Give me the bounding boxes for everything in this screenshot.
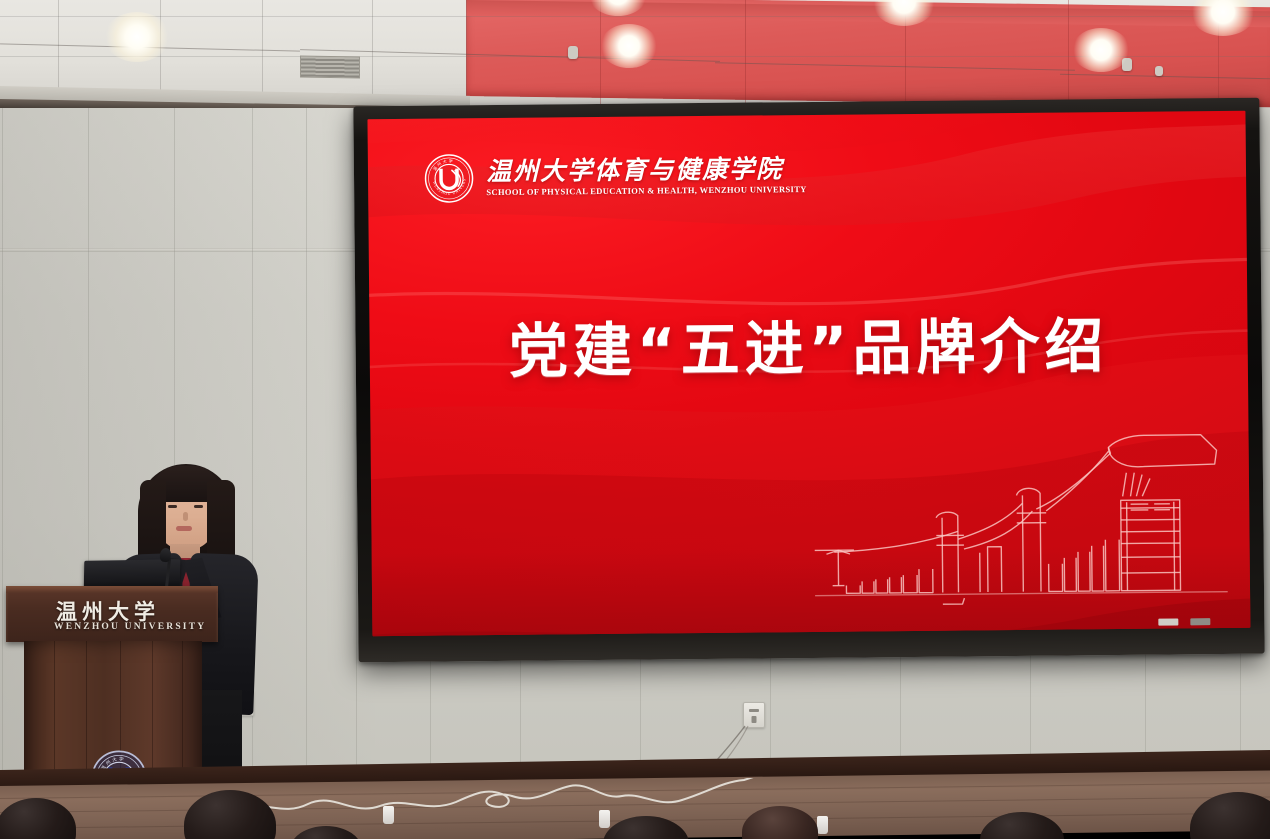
lectern-top-edge (6, 586, 218, 593)
air-vent-grille (300, 55, 360, 78)
speaker-eye (168, 505, 177, 508)
slide-header: 1933 WENZHOU UNIVERSITY 温州大学 温州大学体育与健康学院… (424, 150, 807, 204)
ceiling-downlight (104, 12, 170, 62)
water-bottle (599, 810, 610, 828)
speaker-mouth (176, 526, 192, 531)
city-skyline-line-art-icon (814, 406, 1229, 627)
ceiling-sensor (568, 46, 578, 59)
ceiling-downlight (600, 24, 658, 68)
svg-text:1933: 1933 (446, 187, 453, 191)
screen-label-right (1190, 618, 1210, 625)
wall-panel-seam (306, 108, 307, 788)
speaker-nose (183, 512, 188, 521)
water-bottle (383, 806, 394, 824)
slide-org-name-cn: 温州大学体育与健康学院 (486, 156, 807, 185)
led-presentation-screen[interactable]: 1933 WENZHOU UNIVERSITY 温州大学 温州大学体育与健康学院… (353, 98, 1264, 663)
slide-surface: 1933 WENZHOU UNIVERSITY 温州大学 温州大学体育与健康学院… (367, 111, 1250, 636)
wall-panel-seam (2, 108, 3, 788)
wenzhou-university-seal-icon: 1933 WENZHOU UNIVERSITY 温州大学 (424, 153, 474, 203)
outlet-socket (752, 716, 757, 723)
water-bottle (817, 816, 828, 834)
ceiling-sensor (1155, 66, 1163, 76)
speaker-eye (194, 505, 203, 508)
screen-label-left (1158, 618, 1178, 625)
lectern-name-en: WENZHOU UNIVERSITY (54, 622, 206, 632)
slide-title: 党建“五进”品牌介绍 (369, 297, 1248, 390)
slide-org-name-en: SCHOOL OF PHYSICAL EDUCATION & HEALTH, W… (486, 184, 806, 197)
auditorium-photo: 1933 WENZHOU UNIVERSITY 温州大学 温州大学体育与健康学院… (0, 0, 1270, 839)
slide-org-branding: 温州大学体育与健康学院 SCHOOL OF PHYSICAL EDUCATION… (486, 156, 807, 197)
ceiling-grid-line (0, 16, 1270, 17)
ceiling-downlight (1072, 28, 1130, 72)
lectern-front-panel: 温州大学 WENZHOU UNIVERSITY (6, 586, 218, 642)
outlet-slot (749, 709, 759, 712)
ceiling (0, 0, 1270, 112)
